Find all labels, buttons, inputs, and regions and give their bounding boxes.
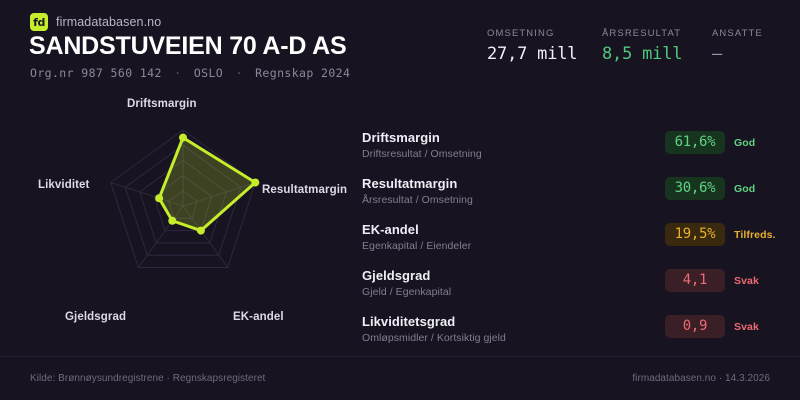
radar-data-point <box>197 227 205 235</box>
metric-value-pill: 19,5% <box>665 223 725 246</box>
metric-value-group: 61,6% God <box>665 131 782 154</box>
report-card: fd firmadatabasen.no SANDSTUVEIEN 70 A-D… <box>0 0 800 400</box>
metric-row-resultatmargin[interactable]: Resultatmargin Årsresultat / Omsetning 3… <box>362 176 782 217</box>
metric-row-driftsmargin[interactable]: Driftsmargin Driftsresultat / Omsetning … <box>362 130 782 171</box>
metric-rating-label: Svak <box>734 275 782 287</box>
stat-omsetning-value: 27,7 mill <box>487 44 602 64</box>
metric-value-pill: 0,9 <box>665 315 725 338</box>
metric-value-group: 0,9 Svak <box>665 315 782 338</box>
accounting-year: Regnskap 2024 <box>255 66 350 80</box>
stat-omsetning: OMSETNING 27,7 mill <box>487 28 602 64</box>
firmadatabasen-logo-icon: fd <box>30 13 48 31</box>
radar-data-point <box>251 179 259 187</box>
radar-data-point <box>168 217 176 225</box>
stat-ansatte-label: ANSATTE <box>712 28 770 39</box>
metric-value-group: 30,6% God <box>665 177 782 200</box>
radar-axis-label-ek-andel: EK-andel <box>233 311 284 323</box>
metric-rating-label: God <box>734 137 782 149</box>
company-city: OSLO <box>194 66 223 80</box>
meta-separator-2: · <box>230 66 247 80</box>
radar-axis-label-gjeldsgrad: Gjeldsgrad <box>65 311 126 323</box>
metric-value-group: 4,1 Svak <box>665 269 782 292</box>
footer-site-date: firmadatabasen.no · 14.3.2026 <box>632 373 770 384</box>
header-stats: OMSETNING 27,7 mill ÅRSRESULTAT 8,5 mill… <box>487 28 770 64</box>
metric-value-group: 19,5% Tilfreds. <box>665 223 782 246</box>
radar-data-point <box>155 194 163 202</box>
header: fd firmadatabasen.no SANDSTUVEIEN 70 A-D… <box>0 0 800 88</box>
stat-arsresultat-label: ÅRSRESULTAT <box>602 28 712 39</box>
metric-rating-label: Svak <box>734 321 782 333</box>
stat-omsetning-label: OMSETNING <box>487 28 602 39</box>
radar-data-point <box>179 134 187 142</box>
metric-row-gjeldsgrad[interactable]: Gjeldsgrad Gjeld / Egenkapital 4,1 Svak <box>362 268 782 309</box>
radar-axis-label-resultatmargin: Resultatmargin <box>262 184 347 196</box>
radar-chart: Driftsmargin Resultatmargin EK-andel Gje… <box>0 95 355 340</box>
org-number: Org.nr 987 560 142 <box>30 66 162 80</box>
brand-name: firmadatabasen.no <box>56 15 161 29</box>
radar-axis-label-driftsmargin: Driftsmargin <box>127 98 197 110</box>
stat-ansatte: ANSATTE – <box>712 28 770 64</box>
metric-value-pill: 30,6% <box>665 177 725 200</box>
company-meta: Org.nr 987 560 142 · OSLO · Regnskap 202… <box>30 66 350 80</box>
meta-separator-1: · <box>169 66 186 80</box>
metric-value-pill: 4,1 <box>665 269 725 292</box>
metric-value-pill: 61,6% <box>665 131 725 154</box>
metric-rating-label: God <box>734 183 782 195</box>
metric-row-ek-andel[interactable]: EK-andel Egenkapital / Eiendeler 19,5% T… <box>362 222 782 263</box>
metric-row-likviditetsgrad[interactable]: Likviditetsgrad Omløpsmidler / Kortsikti… <box>362 314 782 355</box>
stat-arsresultat-value: 8,5 mill <box>602 44 712 64</box>
metric-rating-label: Tilfreds. <box>734 229 782 241</box>
stat-arsresultat: ÅRSRESULTAT 8,5 mill <box>602 28 712 64</box>
radar-axis-label-likviditet: Likviditet <box>38 179 89 191</box>
footer-source: Kilde: Brønnøysundregistrene · Regnskaps… <box>30 373 265 384</box>
brand[interactable]: fd firmadatabasen.no <box>30 13 161 31</box>
footer-divider <box>0 356 800 357</box>
radar-chart-svg <box>0 95 355 340</box>
stat-ansatte-value: – <box>712 44 770 64</box>
page-title: SANDSTUVEIEN 70 A-D AS <box>29 32 346 61</box>
metrics-list: Driftsmargin Driftsresultat / Omsetning … <box>362 130 782 360</box>
